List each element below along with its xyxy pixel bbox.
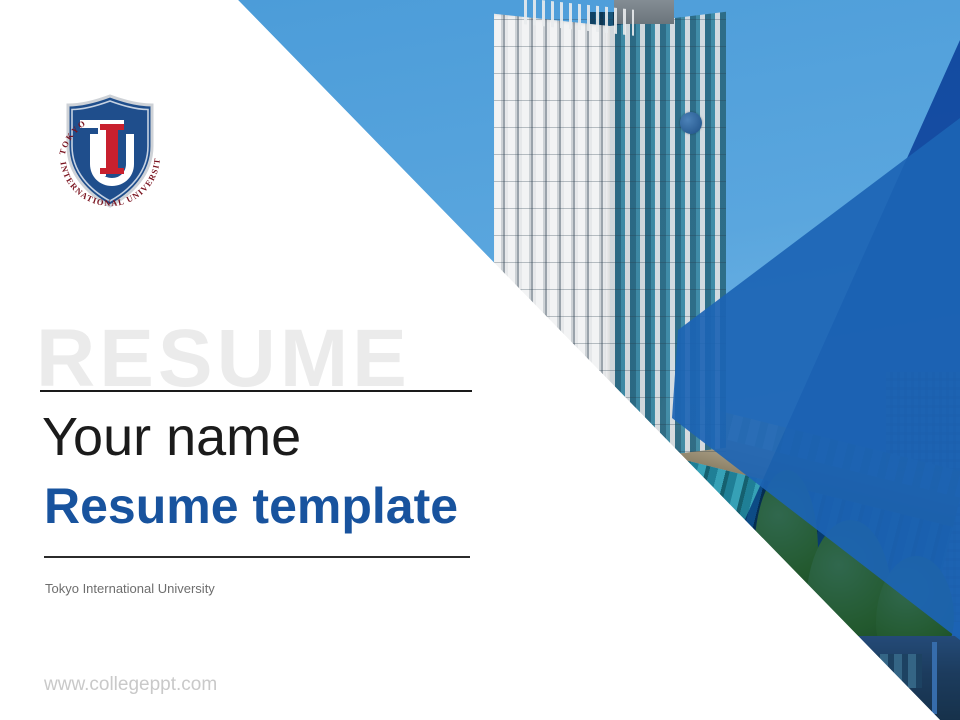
organization-name: Tokyo International University: [45, 581, 215, 596]
tower-facade-emblem: [680, 112, 702, 134]
resume-cover-slide: TOKYO INTERNATIONAL UNIVERSITY RESUME Yo…: [0, 0, 960, 720]
candidate-name: Your name: [42, 406, 301, 468]
resume-watermark: RESUME: [36, 318, 411, 400]
website-footer: www.collegeppt.com: [44, 674, 217, 696]
slide-title: Resume template: [44, 478, 458, 536]
university-logo: TOKYO INTERNATIONAL UNIVERSITY: [44, 90, 176, 214]
divider-top: [40, 390, 472, 392]
divider-bottom: [44, 556, 470, 558]
